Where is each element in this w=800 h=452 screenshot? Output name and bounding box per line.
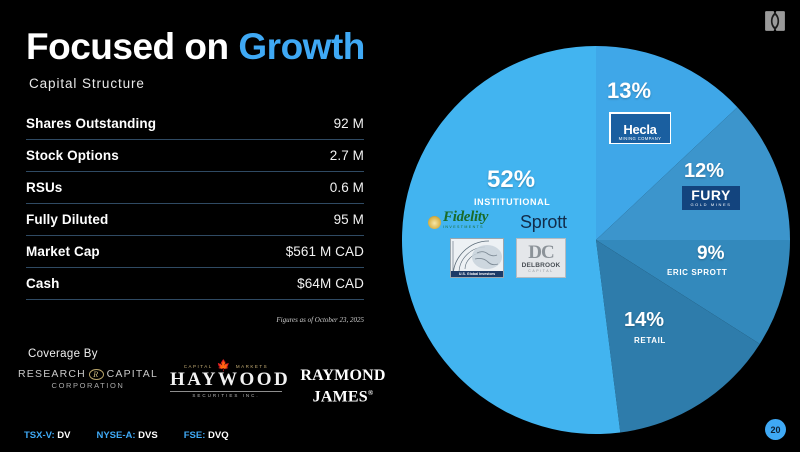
pie-label-ericsprott-pct: 9% <box>697 243 724 265</box>
table-row: RSUs 0.6 M <box>26 172 364 204</box>
delbrook-capital-logo: DC DELBROOK CAPITAL <box>516 238 566 278</box>
hecla-name: Hecla <box>623 124 656 136</box>
haywood-name: HAYWOOD <box>170 370 282 390</box>
ticker-tsxv: TSX-V: DV <box>24 430 70 441</box>
page-subtitle: Capital Structure <box>29 76 145 91</box>
table-row: Cash $64M CAD <box>26 268 364 300</box>
pie-label-institutional-pct: 52% <box>487 166 535 194</box>
ticker-list: TSX-V: DV NYSE-A: DVS FSE: DVQ <box>24 430 229 441</box>
pie-label-institutional-name: INSTITUTIONAL <box>474 197 550 207</box>
left-content-panel: Focused on Growth Capital Structure Shar… <box>0 0 400 452</box>
us-global-investors-caption: U.S. Global Investors <box>451 271 503 277</box>
ticker-fse: FSE: DVQ <box>184 430 229 441</box>
capital-structure-table: Shares Outstanding 92 M Stock Options 2.… <box>26 108 364 300</box>
row-value: 2.7 M <box>330 148 364 163</box>
row-value: 95 M <box>334 212 364 227</box>
research-capital-line3: CORPORATION <box>18 381 158 390</box>
figures-footnote: Figures as of October 23, 2025 <box>26 316 364 324</box>
research-capital-line2: CAPITAL <box>107 368 158 380</box>
row-value: 92 M <box>334 116 364 131</box>
research-capital-mark: R <box>89 369 104 380</box>
raymond-james-line1: RAYMOND <box>288 368 398 385</box>
table-row: Shares Outstanding 92 M <box>26 108 364 140</box>
pie-label-hecla-pct: 13% <box>607 78 651 104</box>
presentation-slide: Focused on Growth Capital Structure Shar… <box>0 0 800 452</box>
institutional-holder-logos: Fidelity INVESTMENTS Sprott U.S. Global … <box>428 212 578 290</box>
row-label: Market Cap <box>26 244 100 259</box>
ticker-exchange: TSX-V: <box>24 430 55 441</box>
raymond-james-logo: RAYMOND JAMES® <box>288 368 398 405</box>
row-label: Fully Diluted <box>26 212 108 227</box>
page-title: Focused on Growth <box>26 26 365 68</box>
pie-label-fury-pct: 12% <box>684 160 724 183</box>
table-row: Market Cap $561 M CAD <box>26 236 364 268</box>
page-title-accent: Growth <box>238 26 364 67</box>
sprott-logo: Sprott <box>520 212 567 233</box>
row-value: $64M CAD <box>297 276 364 291</box>
row-value: $561 M CAD <box>286 244 364 259</box>
us-global-investors-logo: U.S. Global Investors <box>450 238 504 278</box>
fury-name: FURY <box>691 188 731 202</box>
company-logo-mark-icon <box>764 10 786 32</box>
haywood-top-left: CAPITAL <box>184 364 213 369</box>
delbrook-name: DELBROOK <box>522 262 561 269</box>
ticker-exchange: FSE: <box>184 430 206 441</box>
pie-label-retail-pct: 14% <box>624 309 664 332</box>
pie-label-ericsprott-name: ERIC SPROTT <box>667 268 727 277</box>
row-value: 0.6 M <box>330 180 364 195</box>
research-capital-logo: RESEARCH R CAPITAL CORPORATION <box>18 368 158 390</box>
haywood-top-right: MARKETS <box>236 364 268 369</box>
page-number-badge: 20 <box>765 419 786 440</box>
row-label: Stock Options <box>26 148 119 163</box>
coverage-logos: RESEARCH R CAPITAL CORPORATION CAPITAL 🍁… <box>10 362 390 408</box>
pie-label-retail-name: RETAIL <box>634 336 666 345</box>
hecla-logo: Hecla MINING COMPANY <box>609 112 671 144</box>
research-capital-line1: RESEARCH <box>18 368 86 380</box>
row-label: RSUs <box>26 180 62 195</box>
hecla-tagline: MINING COMPANY <box>619 136 662 142</box>
fidelity-pyramid-icon <box>428 216 441 229</box>
ticker-exchange: NYSE-A: <box>96 430 135 441</box>
haywood-tagline: SECURITIES INC. <box>170 391 282 398</box>
ticker-nysea: NYSE-A: DVS <box>96 430 157 441</box>
haywood-logo: CAPITAL 🍁 MARKETS HAYWOOD SECURITIES INC… <box>170 362 282 398</box>
raymond-james-line2: JAMES <box>313 388 368 405</box>
delbrook-tagline: CAPITAL <box>528 269 554 273</box>
coverage-label: Coverage By <box>28 348 98 360</box>
fury-gold-mines-logo: FURY GOLD MINES <box>682 186 740 210</box>
ticker-symbol: DVQ <box>208 430 229 441</box>
row-label: Cash <box>26 276 59 291</box>
fidelity-logo: Fidelity INVESTMENTS <box>428 212 488 233</box>
delbrook-monogram: DC <box>528 243 553 262</box>
table-row: Stock Options 2.7 M <box>26 140 364 172</box>
ticker-symbol: DVS <box>138 430 158 441</box>
fidelity-tagline: INVESTMENTS <box>443 222 488 233</box>
registered-mark-icon: ® <box>368 389 373 397</box>
page-title-main: Focused on <box>26 26 238 67</box>
table-row: Fully Diluted 95 M <box>26 204 364 236</box>
row-label: Shares Outstanding <box>26 116 156 131</box>
ticker-symbol: DV <box>57 430 70 441</box>
